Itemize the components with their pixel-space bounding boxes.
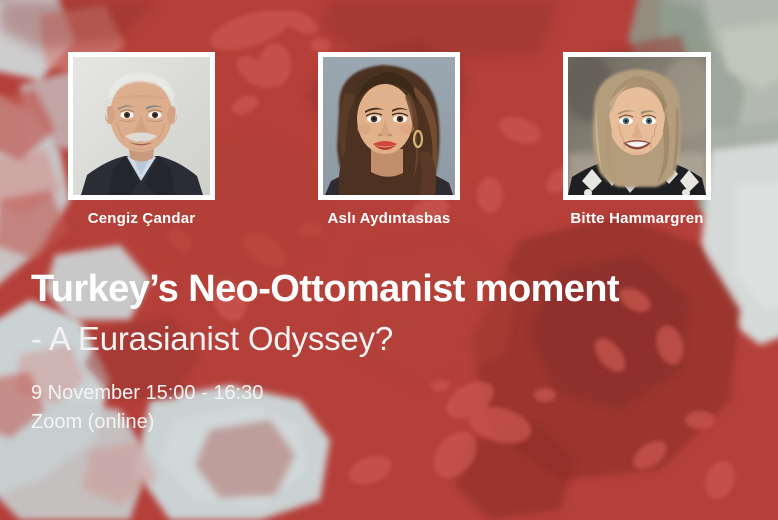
event-poster: Cengiz Çandar [0,0,778,520]
speaker-name-3: Bitte Hammargren [560,210,714,227]
speaker-name-2: Aslı Aydıntasbas [318,210,460,227]
photo-frame-2 [318,52,460,200]
portrait-bitte-hammargren [568,57,706,195]
photo-frame-1 [68,52,215,200]
event-location: Zoom (online) [31,408,263,437]
speaker-name-1: Cengiz Çandar [68,210,215,227]
event-meta: 9 November 15:00 - 16:30 Zoom (online) [31,379,263,437]
event-datetime: 9 November 15:00 - 16:30 [31,379,263,408]
portrait-asli-aydintasbas [323,57,455,195]
poster-title: Turkey’s Neo-Ottomanist moment [31,268,619,311]
photo-frame-3 [563,52,711,200]
poster-subtitle: - A Eurasianist Odyssey? [31,320,393,358]
portrait-cengiz-candar [73,57,210,195]
